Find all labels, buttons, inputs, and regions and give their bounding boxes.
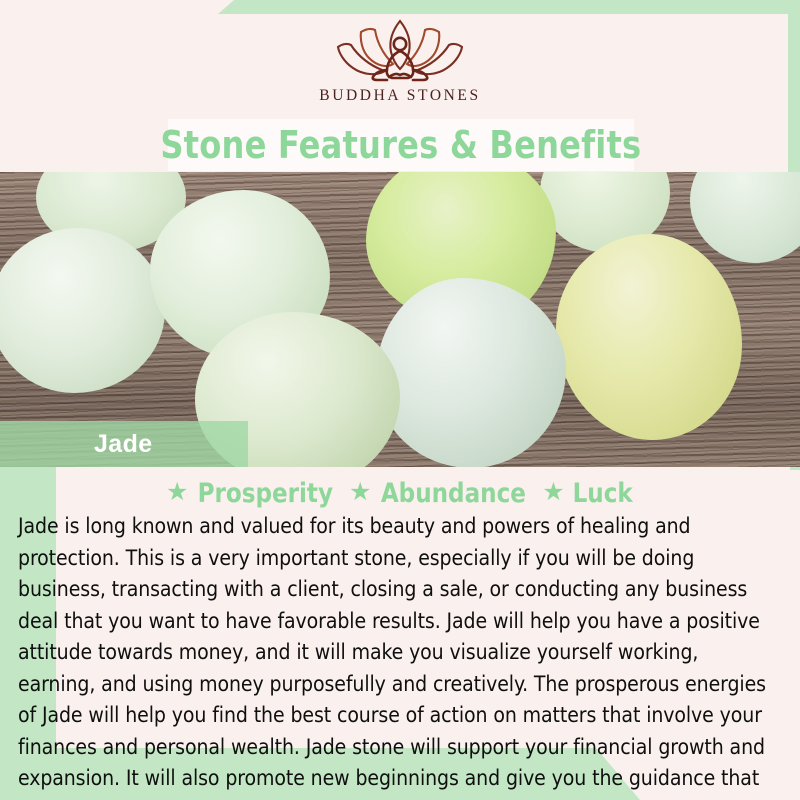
brand-wordmark: BUDDHA STONES: [319, 87, 480, 105]
page-title: Stone Features & Benefits: [160, 123, 641, 167]
star-icon: ★: [166, 480, 188, 505]
brand-header: BUDDHA STONES: [0, 0, 800, 118]
keyword-label: Prosperity: [198, 478, 333, 509]
stone-description: Jade is long known and valued for its be…: [18, 511, 774, 800]
keyword-list: ★ Prosperity ★ Abundance ★ Luck: [0, 478, 800, 509]
title-banner: Stone Features & Benefits: [168, 119, 634, 171]
lotus-meditation-icon: [325, 14, 475, 86]
stone-name-label: Jade: [94, 430, 153, 459]
keyword-label: Abundance: [381, 478, 526, 509]
keyword-item-abundance: ★ Abundance: [349, 478, 530, 509]
infographic-page: BUDDHA STONES Stone Features & Benefits …: [0, 0, 800, 800]
stone-shape: [376, 278, 566, 467]
keyword-item-luck: ★ Luck: [542, 478, 634, 509]
keyword-label: Luck: [572, 478, 632, 509]
star-icon: ★: [349, 480, 371, 505]
stone-name-bar: Jade: [0, 421, 248, 467]
star-icon: ★: [542, 480, 564, 505]
keyword-item-prosperity: ★ Prosperity: [166, 478, 337, 509]
